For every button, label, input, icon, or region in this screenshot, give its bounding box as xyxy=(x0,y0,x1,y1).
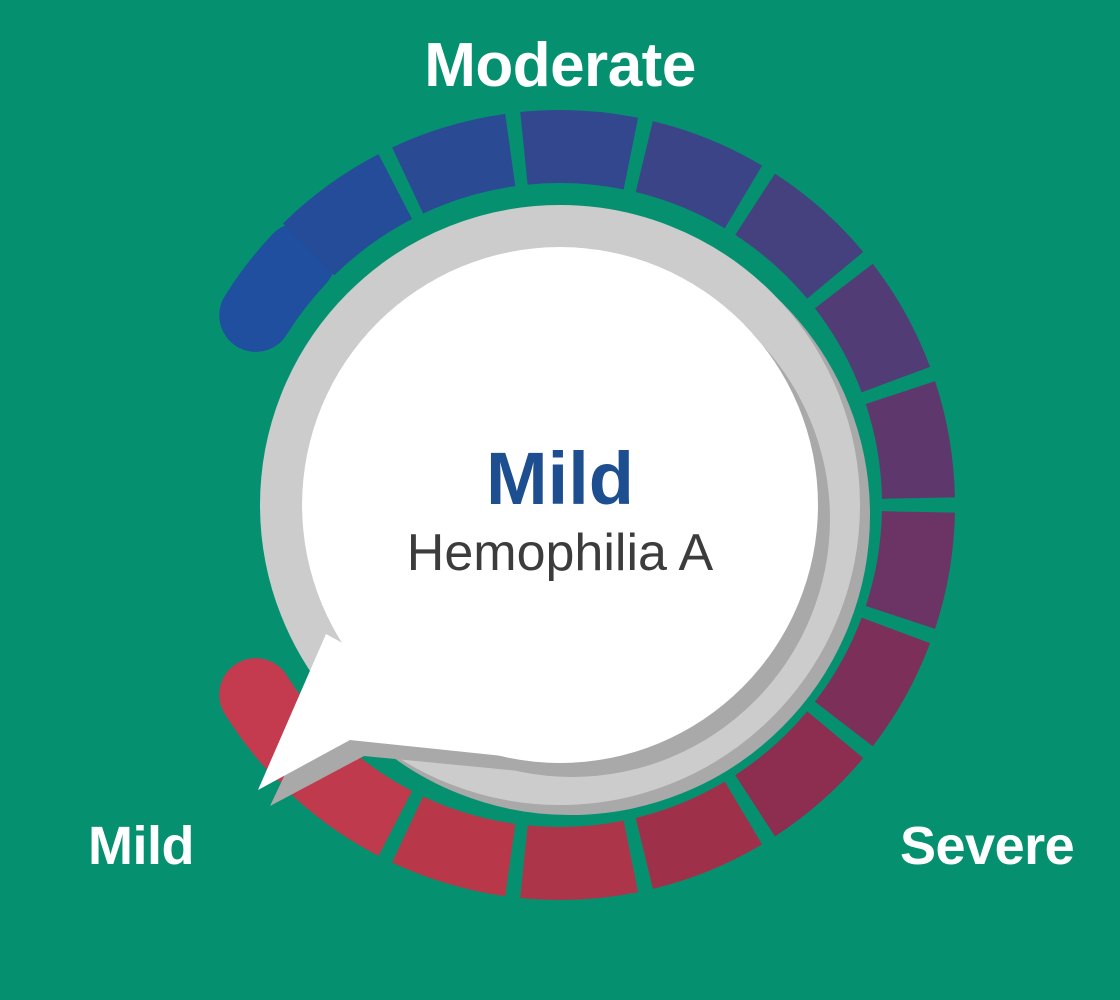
axis-label-mild: Mild xyxy=(88,815,194,877)
gauge-segment xyxy=(866,511,955,629)
condition-name: Hemophilia A xyxy=(300,524,820,584)
gauge-segment xyxy=(392,796,515,896)
gauge-segment xyxy=(520,110,638,189)
gauge-infographic: Moderate Mild Severe Mild Hemophilia A xyxy=(0,0,1120,1000)
gauge-segment xyxy=(256,259,299,315)
axis-label-severe: Severe xyxy=(900,815,1074,877)
gauge-segment xyxy=(636,121,762,228)
gauge-segment xyxy=(866,381,955,499)
gauge-segment xyxy=(520,821,638,900)
axis-label-moderate: Moderate xyxy=(0,30,1120,101)
severity-value: Mild xyxy=(300,440,820,518)
callout-content: Mild Hemophilia A xyxy=(300,440,820,583)
gauge-segment xyxy=(392,114,515,214)
